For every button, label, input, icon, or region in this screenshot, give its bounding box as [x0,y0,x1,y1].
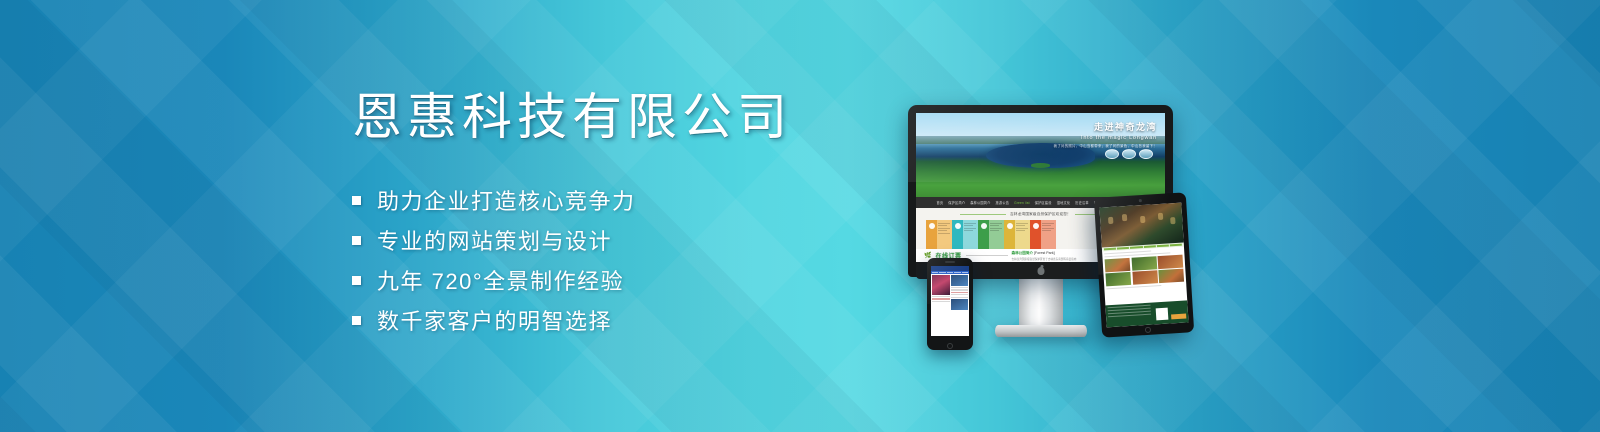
footer-link-cn: 森林公园简介 [1012,251,1034,255]
tablet-footer [1105,300,1188,327]
list-item: 数千家客户的明智选择 [352,300,872,340]
apple-logo-icon [1037,267,1044,275]
list-item: 专业的网站策划与设计 [352,220,872,260]
square-bullet-icon [352,276,361,285]
page-title: 恩惠科技有限公司 [352,92,872,142]
feature-card-body[interactable] [963,220,978,249]
square-bullet-icon [352,236,361,245]
earpiece-speaker [945,261,955,263]
mobile-column-left [932,275,950,311]
footer-badge [1171,314,1186,320]
site-hero-image: 走进神奇龙湾 Into the magic Longwan 我了问的照片，中山岛… [916,113,1165,197]
home-button[interactable] [1145,327,1151,333]
monitor-stand-base [995,325,1087,337]
list-item-label: 数千家客户的明智选择 [377,304,612,336]
tablet-screen [1099,203,1188,328]
tablet-hero-image [1099,203,1183,248]
card-dot-icon [929,223,935,229]
card-dot-icon [955,223,961,229]
card-dot-icon [981,223,987,229]
footer-link-block[interactable]: 森林公园简介 [Forest Park] 吉林龙湾国家级自然保护区位于吉林省东南… [1012,251,1077,261]
responsive-device-mockup: 走进神奇龙湾 Into the magic Longwan 我了问的照片，中山岛… [900,90,1220,360]
card-dot-icon [1033,223,1039,229]
list-item-label: 九年 720°全景制作经验 [377,264,624,296]
ipad-mockup [1094,192,1194,337]
nav-item[interactable]: 保护区简介 [948,200,965,205]
feature-card-icon[interactable] [1030,220,1041,249]
hero-thumbnail-bubbles [1105,149,1153,159]
footer-divider [966,255,1008,256]
list-item: 九年 720°全景制作经验 [352,260,872,300]
phone-screen [931,266,969,336]
nav-item[interactable]: 旅游公告 [996,200,1010,205]
feature-card-icon[interactable] [1004,220,1015,249]
mobile-site-header [931,266,969,271]
card-dot-icon [1007,223,1013,229]
qr-code-icon [1156,308,1169,321]
feature-card-body[interactable] [1015,220,1030,249]
hero-title-block: 走进神奇龙湾 Into the magic Longwan 我了问的照片，中山岛… [1054,120,1157,148]
feature-card-icon[interactable] [926,220,937,249]
food-photo-row [1105,269,1184,287]
feature-card-body[interactable] [989,220,1004,249]
front-camera-icon [1139,199,1142,202]
footer-link-en: [Forest Park] [1034,251,1055,255]
nav-item[interactable]: 保护区建设 [1035,200,1052,205]
feature-card-body[interactable] [937,220,952,249]
mobile-nav-bar [931,271,969,274]
square-bullet-icon [352,316,361,325]
tablet-content [1102,247,1186,293]
mobile-image [951,275,969,286]
welcome-text: 吉林龙湾国家级自然保护区欢迎您！ [1010,212,1071,217]
list-item: 助力企业打造核心竞争力 [352,180,872,220]
square-bullet-icon [352,196,361,205]
hero-subtitle: 我了问的照片，中山岛都带来；我了问的景色，中山岛我留下！ [1054,143,1157,148]
food-photo-row [1105,254,1184,272]
hero-island [1031,163,1051,167]
iphone-mockup [927,258,973,350]
nav-item-green-list[interactable]: Green list [1014,201,1030,205]
divider-left [960,214,1006,215]
hero-title-en: Into the magic Longwan [1054,135,1157,141]
tablet-nav-bar [1102,243,1184,252]
mobile-content [931,274,969,312]
mobile-image [951,299,969,310]
nav-item[interactable]: 首页 [937,200,944,205]
nav-item[interactable]: 历史沿革 [1075,200,1089,205]
feature-bullet-list: 助力企业打造核心竞争力 专业的网站策划与设计 九年 720°全景制作经验 数千家… [352,180,872,340]
feature-card-icon[interactable] [978,220,989,249]
feature-card-icon[interactable] [952,220,963,249]
banner-text-block: 恩惠科技有限公司 助力企业打造核心竞争力 专业的网站策划与设计 九年 720°全… [352,92,872,340]
nav-item[interactable]: 森林公园简介 [970,200,990,205]
nav-item[interactable]: 湿地文化 [1057,200,1071,205]
mobile-image [932,275,950,295]
monitor-stand-neck [1019,277,1063,325]
feature-card-body[interactable] [1041,220,1056,249]
hero-banner: 恩惠科技有限公司 助力企业打造核心竞争力 专业的网站策划与设计 九年 720°全… [0,0,1600,432]
list-item-label: 专业的网站策划与设计 [377,224,612,256]
mobile-column-right [951,275,969,311]
list-item-label: 助力企业打造核心竞争力 [377,184,636,216]
footer-note: 吉林龙湾国家级自然保护区位于吉林省东南部辉南县境内 [1012,257,1077,261]
home-button[interactable] [947,343,953,349]
hero-title-cn: 走进神奇龙湾 [1054,120,1157,133]
